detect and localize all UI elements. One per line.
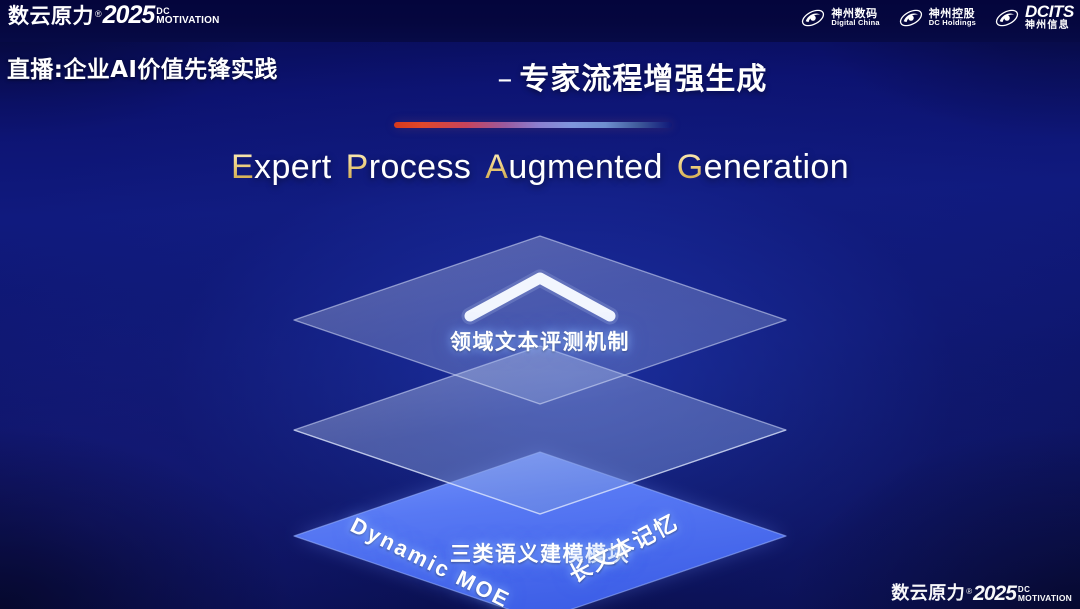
brand-logo-chinese: 数云原力 (8, 5, 94, 27)
subtitle-rest: rocess (369, 148, 472, 186)
subtitle-cap: P (346, 148, 369, 186)
page-title-chinese: 专家流程增强生成 (519, 62, 767, 97)
partner-logo-text: 神州控股 DC Holdings (929, 8, 976, 28)
subtitle-word-process: Process (346, 148, 472, 186)
partner-name-cn: 神州信息 (1025, 20, 1074, 32)
brand-logo-year: 2025 (973, 584, 1016, 603)
diagram-layer-bottom-label: 三类语义建模模块 (278, 538, 802, 568)
brand-logo-motivation: MOTIVATION (156, 16, 219, 26)
brand-logo-top-left: 数云原力 ® 2025 DC MOTIVATION (8, 4, 220, 27)
gradient-divider (394, 122, 672, 128)
swirl-icon (800, 5, 826, 31)
page-subtitle: ExpertProcessAugmentedGeneration (0, 148, 1080, 187)
partner-logo-digital-china: 神州数码 Digital China (800, 5, 879, 31)
subtitle-word-generation: Generation (677, 148, 849, 186)
page-title-acronym: EPAG (403, 63, 492, 96)
brand-logo-motivation: MOTIVATION (1018, 594, 1072, 603)
subtitle-cap: E (231, 148, 254, 186)
partner-logo-group: 神州数码 Digital China 神州控股 DC Holdings (800, 3, 1074, 32)
diagram-layer-top-label: 领域文本评测机制 (278, 326, 802, 356)
partner-name-en: DC Holdings (929, 19, 976, 27)
slide-stage: 数云原力 ® 2025 DC MOTIVATION 直播:企业AI价值先锋实践 … (0, 0, 1080, 609)
page-title-dash: – (497, 62, 513, 97)
partner-logo-text: DCITS 神州信息 (1025, 3, 1074, 32)
brand-logo-bottom-right: 数云原力 ® 2025 DC MOTIVATION (891, 584, 1072, 603)
brand-logo-year: 2025 (103, 4, 155, 27)
subtitle-rest: xpert (254, 148, 332, 186)
partner-logo-dcits: DCITS 神州信息 (994, 3, 1074, 32)
subtitle-rest: eneration (704, 148, 849, 186)
partner-logo-text: 神州数码 Digital China (831, 8, 879, 28)
brand-logo-chinese: 数云原力 (891, 584, 965, 603)
subtitle-cap: G (677, 148, 704, 186)
subtitle-word-expert: Expert (231, 148, 332, 186)
brand-logo-dc-motivation: DC MOTIVATION (156, 7, 219, 26)
diagram-layer-top[interactable]: 领域文本评测机制 (278, 228, 802, 532)
live-broadcast-headline: 直播:企业AI价值先锋实践 (7, 50, 278, 84)
subtitle-word-augmented: Augmented (485, 148, 663, 186)
subtitle-cap: A (485, 148, 508, 186)
partner-name-en: Digital China (831, 19, 879, 27)
partner-name-en: DCITS (1025, 3, 1074, 20)
brand-logo-registered-mark: ® (966, 588, 972, 596)
subtitle-rest: ugmented (508, 148, 662, 186)
partner-logo-dc-holdings: 神州控股 DC Holdings (898, 5, 976, 31)
swirl-icon (898, 5, 924, 31)
brand-logo-dc-motivation: DC MOTIVATION (1018, 586, 1072, 603)
brand-logo-registered-mark: ® (95, 10, 102, 19)
layered-architecture-diagram: 三类语义建模模块 Dynamic MOE 长文本记忆 (278, 228, 802, 564)
swirl-icon (994, 5, 1020, 31)
